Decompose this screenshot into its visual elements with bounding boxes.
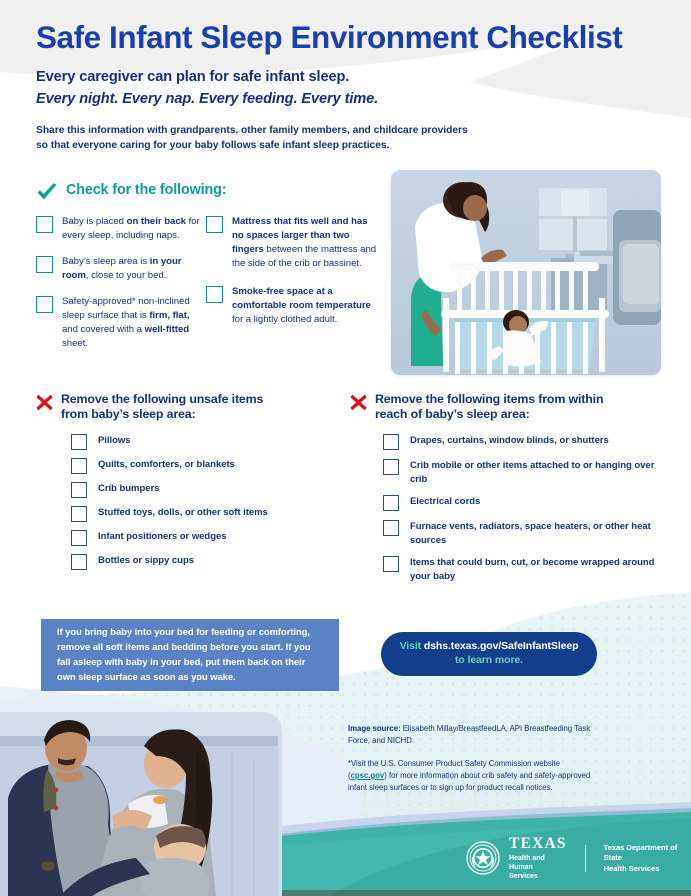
subtitle-primary: Every caregiver can plan for safe infant… (36, 68, 661, 86)
check-item-label: Safety-approved* non-inclined sleep surf… (62, 295, 206, 351)
list-item-label: Drapes, curtains, window blinds, or shut… (410, 432, 609, 447)
list-item[interactable]: Bottles or sippy cups (71, 552, 336, 570)
texas-label: TEXAS (509, 836, 567, 852)
hhs-label: Health and Human Services (509, 854, 567, 881)
x-mark-icon (36, 394, 53, 411)
list-item[interactable]: Stuffed toys, dolls, or other soft items (71, 504, 336, 522)
t: for a lightly clothed adult. (232, 314, 337, 325)
footnotes: Image source: Elisabeth Millay/Breastfee… (348, 723, 598, 795)
checkbox[interactable] (71, 554, 87, 570)
image-source-label: Image source: (348, 724, 401, 733)
header: Safe Infant Sleep Environment Checklist … (36, 20, 661, 154)
visit-line-1: Visit dshs.texas.gov/SafeInfantSleep (400, 640, 579, 654)
checkbox[interactable] (206, 216, 223, 233)
title-line-2: from baby’s sleep area: (61, 407, 263, 422)
check-item-label: Baby’s sleep area is in your room, close… (62, 255, 206, 283)
t: well-fitted (145, 324, 189, 335)
x-mark-icon (350, 394, 367, 411)
visit-suffix: to learn more. (455, 654, 523, 666)
subtitle-secondary: Every night. Every nap. Every feeding. E… (36, 90, 661, 108)
cpsc-link[interactable]: cpsc.gov (351, 771, 385, 780)
list-item[interactable]: Crib bumpers (71, 480, 336, 498)
visit-website-button[interactable]: Visit dshs.texas.gov/SafeInfantSleep to … (381, 632, 597, 676)
callout-text: If you bring baby into your bed for feed… (41, 625, 339, 684)
t: Smoke-free space at a comfortable room t… (232, 286, 371, 311)
list-item-label: Electrical cords (410, 493, 480, 508)
checkbox[interactable] (36, 296, 53, 313)
t: sheet. (62, 338, 88, 349)
share-instructions: Share this information with grandparents… (36, 123, 661, 154)
checkbox[interactable] (383, 434, 399, 450)
check-item[interactable]: Baby is placed on their back for every s… (36, 215, 206, 243)
check-item-label: Mattress that fits well and has no space… (232, 215, 378, 271)
list-item-label: Furnace vents, radiators, space heaters,… (410, 518, 670, 547)
share-line-2: so that everyone caring for your baby fo… (36, 138, 661, 153)
share-line-1: Share this information with grandparents… (36, 123, 661, 138)
list-item-label: Quilts, comforters, or blankets (98, 456, 235, 471)
list-item[interactable]: Drapes, curtains, window blinds, or shut… (383, 432, 670, 450)
checkbox[interactable] (383, 520, 399, 536)
checkbox[interactable] (71, 482, 87, 498)
check-item-label: Baby is placed on their back for every s… (62, 215, 206, 243)
check-section-title: Check for the following: (66, 182, 226, 199)
check-item[interactable]: Smoke-free space at a comfortable room t… (206, 285, 378, 327)
poster-page: Safe Infant Sleep Environment Checklist … (0, 0, 691, 896)
checkbox[interactable] (71, 506, 87, 522)
page-title: Safe Infant Sleep Environment Checklist (36, 20, 661, 55)
checkbox[interactable] (71, 458, 87, 474)
list-item-label: Items that could burn, cut, or become wr… (410, 554, 670, 583)
list-item-label: Infant positioners or wedges (98, 528, 226, 543)
list-item[interactable]: Electrical cords (383, 493, 670, 511)
list-item-label: Crib bumpers (98, 480, 159, 495)
dshs-line-2: Health Services (604, 864, 691, 874)
check-section: Check for the following: Baby is placed … (36, 182, 384, 351)
checkbox[interactable] (36, 216, 53, 233)
list-item-label: Bottles or sippy cups (98, 552, 194, 567)
logo-divider (585, 845, 586, 872)
texas-state-seal-icon (466, 841, 500, 875)
checkbox[interactable] (71, 434, 87, 450)
list-item[interactable]: Crib mobile or other items attached to o… (383, 457, 670, 486)
title-line-2: reach of baby’s sleep area: (375, 407, 603, 422)
title-line-1: Remove the following items from within (375, 392, 603, 407)
t: Baby is placed (62, 216, 127, 227)
checkmark-icon (36, 183, 58, 203)
hhs-line-2: Services (509, 872, 567, 881)
check-column-right: Mattress that fits well and has no space… (206, 215, 378, 351)
checkbox[interactable] (383, 495, 399, 511)
list-item[interactable]: Furnace vents, radiators, space heaters,… (383, 518, 670, 547)
image-source-note: Image source: Elisabeth Millay/Breastfee… (348, 723, 598, 748)
t: on their back (127, 216, 186, 227)
list-item[interactable]: Infant positioners or wedges (71, 528, 336, 546)
visit-prefix: Visit (400, 640, 424, 652)
list-item[interactable]: Quilts, comforters, or blankets (71, 456, 336, 474)
checkbox[interactable] (383, 459, 399, 475)
remove-unsafe-items-section: Remove the following unsafe items from b… (36, 392, 336, 576)
list-item[interactable]: Items that could burn, cut, or become wr… (383, 554, 670, 583)
visit-line-2: to learn more. (400, 654, 579, 668)
remove-left-title: Remove the following unsafe items from b… (61, 392, 263, 422)
list-item-label: Crib mobile or other items attached to o… (410, 457, 670, 486)
list-item[interactable]: Pillows (71, 432, 336, 450)
check-section-header: Check for the following: (36, 182, 384, 203)
footer-logo: TEXAS Health and Human Services Texas De… (466, 836, 691, 881)
list-item-label: Pillows (98, 432, 131, 447)
dshs-line-1: Texas Department of State (604, 843, 691, 864)
family-photo (0, 712, 320, 896)
crib-photo (391, 170, 661, 375)
remove-right-header: Remove the following items from within r… (350, 392, 670, 422)
asterisk-note: *Visit the U.S. Consumer Product Safety … (348, 758, 598, 795)
checkbox[interactable] (71, 530, 87, 546)
visit-url: dshs.texas.gov/SafeInfantSleep (424, 640, 579, 652)
texas-hhs-wordmark: TEXAS Health and Human Services (509, 836, 567, 881)
t: , close to your bed. (86, 270, 166, 281)
remove-right-list: Drapes, curtains, window blinds, or shut… (350, 432, 670, 583)
remove-within-reach-section: Remove the following items from within r… (350, 392, 670, 590)
check-item[interactable]: Safety-approved* non-inclined sleep surf… (36, 295, 206, 351)
check-item[interactable]: Mattress that fits well and has no space… (206, 215, 378, 271)
t: firm, flat, (149, 310, 189, 321)
asterisk-post: ) for more information about crib safety… (348, 771, 590, 792)
check-item-label: Smoke-free space at a comfortable room t… (232, 285, 378, 327)
checkbox[interactable] (383, 556, 399, 572)
checkbox[interactable] (36, 256, 53, 273)
bedsharing-callout: If you bring baby into your bed for feed… (41, 619, 339, 691)
remove-left-list: Pillows Quilts, comforters, or blankets … (36, 432, 336, 570)
remove-left-header: Remove the following unsafe items from b… (36, 392, 336, 422)
list-item-label: Stuffed toys, dolls, or other soft items (98, 504, 268, 519)
checkbox[interactable] (206, 286, 223, 303)
t: and covered with a (62, 324, 145, 335)
hhs-line-1: Health and Human (509, 854, 567, 872)
dshs-label: Texas Department of State Health Service… (604, 843, 691, 874)
title-line-1: Remove the following unsafe items (61, 392, 263, 407)
remove-right-title: Remove the following items from within r… (375, 392, 603, 422)
check-item[interactable]: Baby’s sleep area is in your room, close… (36, 255, 206, 283)
check-column-left: Baby is placed on their back for every s… (36, 215, 206, 351)
t: Baby’s sleep area is (62, 256, 150, 267)
check-items-columns: Baby is placed on their back for every s… (36, 215, 384, 351)
visit-button-text: Visit dshs.texas.gov/SafeInfantSleep to … (400, 640, 579, 668)
